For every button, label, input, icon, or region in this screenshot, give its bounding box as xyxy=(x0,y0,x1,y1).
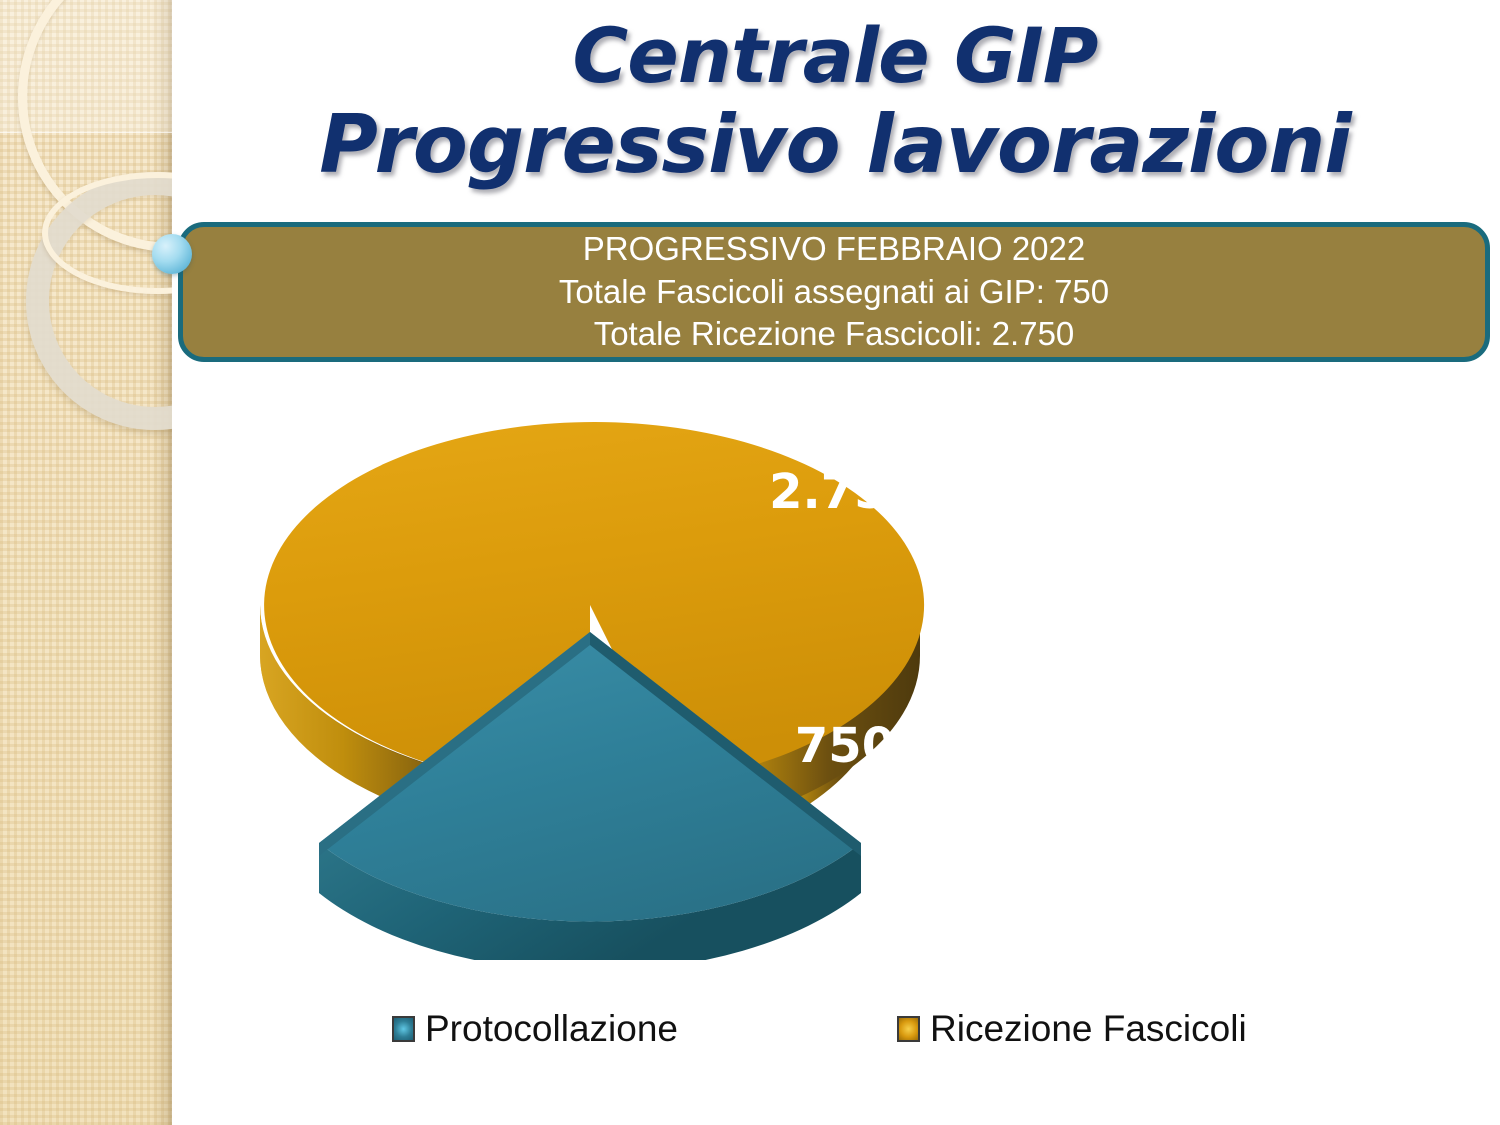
page-title: Centrale GIP Progressivo lavorazioni xyxy=(180,12,1490,191)
info-line-assegnati: Totale Fascicoli assegnati ai GIP: 750 xyxy=(559,271,1109,314)
legend-swatch-icon-ricezione xyxy=(897,1016,920,1042)
legend-item-ricezione[interactable]: Ricezione Fascicoli xyxy=(897,1010,1247,1047)
pie-chart: 2.750 750 xyxy=(180,380,1490,1080)
legend-label-protocollazione: Protocollazione xyxy=(425,1010,678,1047)
info-line-ricezione: Totale Ricezione Fascicoli: 2.750 xyxy=(594,313,1075,356)
pie-chart-svg xyxy=(180,380,1490,960)
title-line-1: Centrale GIP xyxy=(180,12,1490,99)
legend-swatch-icon-protocollazione xyxy=(392,1016,415,1042)
info-line-period: PROGRESSIVO FEBBRAIO 2022 xyxy=(583,228,1086,271)
summary-info-box: PROGRESSIVO FEBBRAIO 2022 Totale Fascico… xyxy=(178,222,1490,362)
chart-legend: Protocollazione Ricezione Fascicoli xyxy=(180,1010,1490,1070)
title-line-2: Progressivo lavorazioni xyxy=(180,99,1490,191)
decorative-sidebar xyxy=(0,0,172,1125)
legend-item-protocollazione[interactable]: Protocollazione xyxy=(392,1010,678,1047)
decorative-sphere-icon xyxy=(152,234,192,274)
legend-label-ricezione: Ricezione Fascicoli xyxy=(930,1010,1247,1047)
